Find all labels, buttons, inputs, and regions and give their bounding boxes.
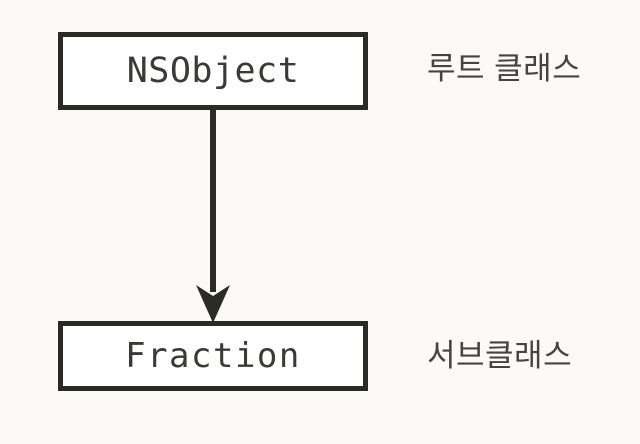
class-box-fraction-label: Fraction <box>125 339 301 373</box>
annotation-root-class: 루트 클래스 <box>427 53 581 84</box>
class-box-fraction: Fraction <box>58 321 368 391</box>
class-box-nsobject-label: NSObject <box>127 54 300 89</box>
annotation-subclass: 서브클래스 <box>427 340 572 371</box>
class-diagram-canvas: NSObject Fraction 루트 클래스 서브클래스 <box>0 0 640 444</box>
arrow-head <box>196 285 230 323</box>
class-box-nsobject: NSObject <box>58 32 368 110</box>
arrow-shaft <box>210 106 216 292</box>
